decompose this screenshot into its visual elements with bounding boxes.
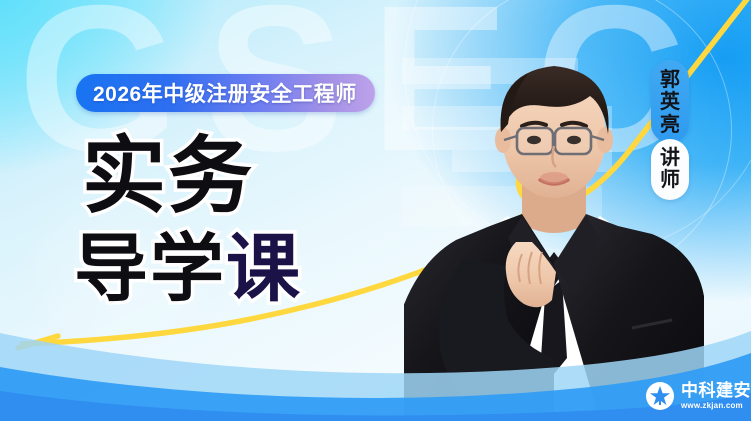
logo-website-url: www.zkjan.com — [681, 402, 751, 410]
title-secondary-main: 导学 — [74, 227, 226, 310]
logo-company-name: 中科建安 — [681, 382, 751, 399]
instructor-role-badge: 讲 师 — [651, 139, 689, 200]
brand-logo[interactable]: 中科建安 www.zkjan.com — [645, 381, 751, 411]
instructor-name-char: 郭 — [660, 69, 680, 91]
course-category-badge: 2026年中级注册安全工程师 — [76, 74, 375, 112]
badge-label: 2026年中级注册安全工程师 — [93, 78, 357, 108]
star-circle-icon — [645, 381, 675, 411]
title-secondary-accent: 课 — [226, 227, 302, 310]
title-line-secondary: 导学课 — [74, 232, 404, 306]
course-poster: GSEC — [0, 0, 751, 421]
page-title: 实务 导学课 — [74, 134, 404, 306]
instructor-role-char: 师 — [660, 169, 680, 191]
instructor-name-char: 英 — [660, 91, 680, 113]
instructor-name-badge: 郭 英 亮 — [651, 60, 689, 143]
instructor-name-char: 亮 — [660, 114, 680, 136]
instructor-role-char: 讲 — [660, 147, 680, 169]
logo-text-block: 中科建安 www.zkjan.com — [681, 382, 751, 410]
title-line-primary: 实务 — [82, 134, 404, 218]
